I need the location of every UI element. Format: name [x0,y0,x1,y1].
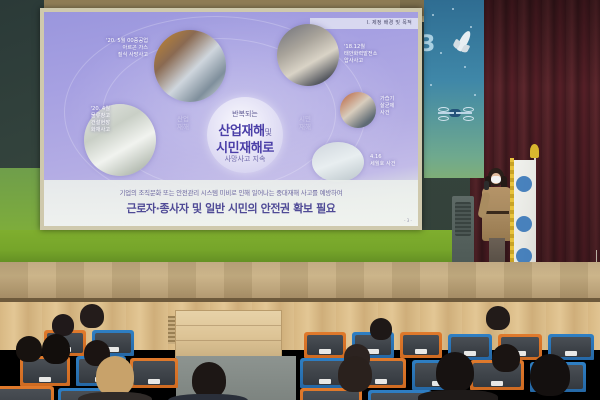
flag-fringe [510,158,514,274]
flag-finial [530,144,539,158]
audience-head [338,356,372,392]
side-label-civil: 시민 재해 [288,115,322,131]
case-label-sewol: 4.16 세월호 사건 [370,154,416,168]
banner-number: 3 [424,32,435,57]
audience-head [80,304,104,328]
seat [0,386,54,400]
audience-head [192,362,226,398]
projection-screen: Ⅰ. 제정 배경 및 목적 반복되는 산업재해및 시민재해로 사망사고 지속 산… [44,12,418,226]
photo-circle-humidifier [340,92,376,128]
case-label-argon: '20. 5월 00중공업 아르곤 가스 질식 사망사고 [50,38,148,59]
bottom-line1: 기업의 조직문화 또는 안전관리 시스템 미비로 인해 일어나는 중대재해 사고… [44,188,418,197]
drone-icon [438,105,472,121]
seat [304,332,346,358]
wooden-step-box [175,310,282,358]
audience-shoulders [418,390,498,400]
flag-cloth [512,160,536,272]
auditorium-scene: 3 Ⅰ. 제정 배경 및 목적 [0,0,600,400]
rocket-icon [455,29,472,52]
wall-vent [168,316,175,344]
audience-head [436,352,474,392]
center-line4: 사망사고 지속 [207,154,283,164]
photo-circle-taean [277,24,339,86]
audience-head [16,336,42,362]
photo-circle-argon [154,30,226,102]
seat [400,332,442,358]
microphone-icon [484,181,489,190]
center-message-circle: 반복되는 산업재해및 시민재해로 사망사고 지속 [207,97,283,173]
side-label-industrial: 산업 재해 [166,115,200,131]
case-label-humidifier: 가습기 살균제 사건 [380,96,418,117]
audience-head [486,306,510,330]
decorative-banner: 3 [424,0,484,178]
slide-header-label: Ⅰ. 제정 배경 및 목적 [366,18,412,29]
audience-head [42,334,70,364]
green-wall-band [0,230,470,266]
audience-shoulders [168,394,248,400]
slide-bottom-band: 기업의 조직문화 또는 안전관리 시스템 미비로 인해 일어나는 중대재해 사고… [44,180,418,226]
face-mask-icon [491,176,501,183]
audience-head [96,356,134,396]
stage-floor [0,262,600,302]
center-line1: 반복되는 [207,109,283,119]
slide-page-number: - 3 - [404,218,412,223]
audience-head [52,314,74,336]
audience-head [530,354,570,396]
audience-head [492,344,520,372]
case-label-warehouse: '20. 4월 물류창고 건설현장 화재사고 [44,106,110,134]
center-line2-suffix: 및 [265,128,272,137]
audience-head [370,318,392,340]
audience-shoulders [78,392,152,400]
photo-circle-sewol [312,142,364,182]
seat [130,358,178,388]
bottom-line2: 근로자·종사자 및 일반 시민의 안전권 확보 필요 [44,200,418,216]
case-label-taean: '18.12월 태안화력발전소 압사사고 [344,44,414,65]
